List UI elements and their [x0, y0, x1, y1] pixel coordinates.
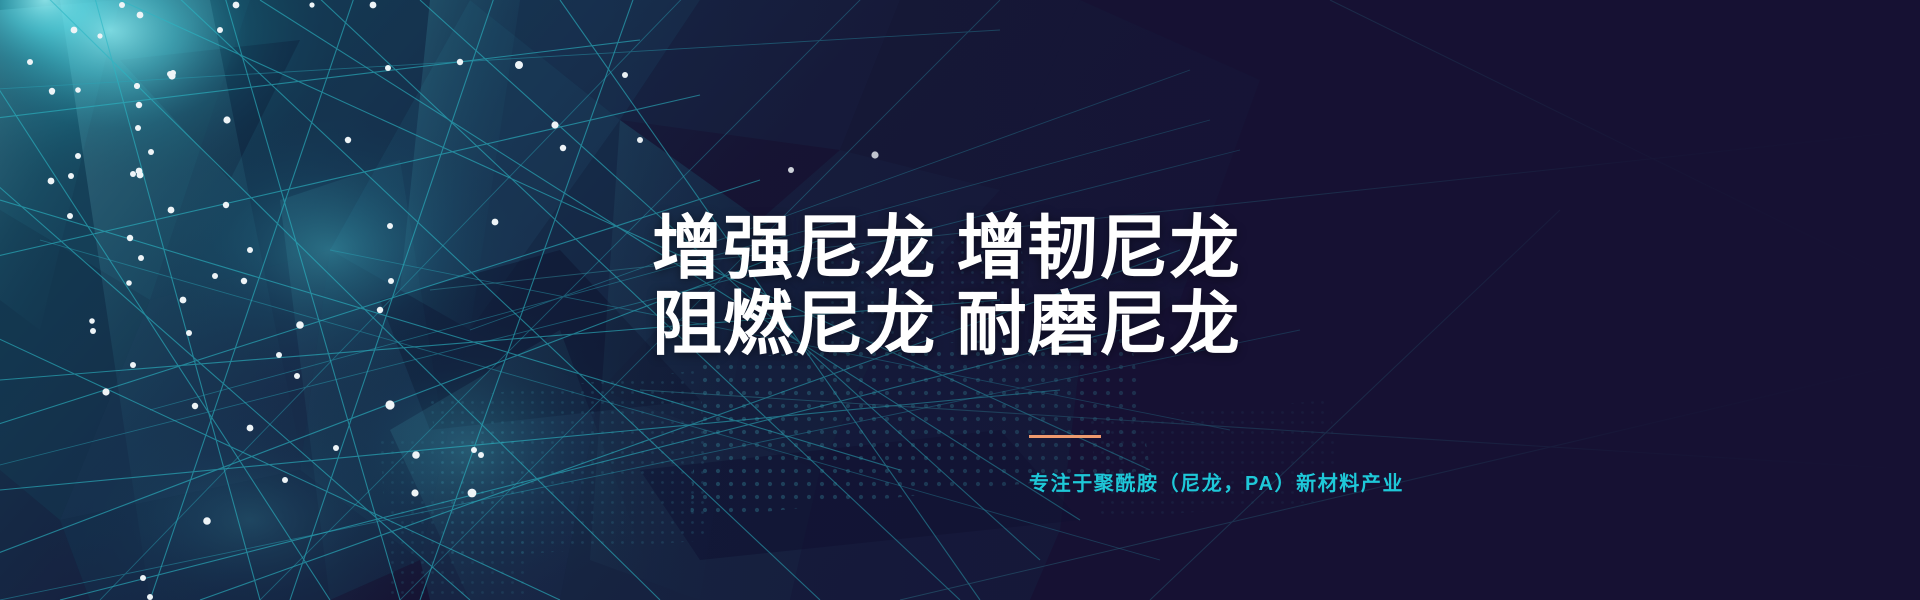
banner-subtitle: 专注于聚酰胺（尼龙，PA）新材料产业 [1029, 470, 1404, 498]
orange-rule-divider [1029, 435, 1101, 438]
banner-content: 增强尼龙 增韧尼龙 阻燃尼龙 耐磨尼龙 专注于聚酰胺（尼龙，PA）新材料产业 [0, 0, 1920, 600]
hero-banner: 增强尼龙 增韧尼龙 阻燃尼龙 耐磨尼龙 专注于聚酰胺（尼龙，PA）新材料产业 [0, 0, 1920, 600]
headline-line-2: 阻燃尼龙 耐磨尼龙 [652, 289, 1240, 359]
headline-line-1: 增强尼龙 增韧尼龙 [652, 213, 1240, 283]
